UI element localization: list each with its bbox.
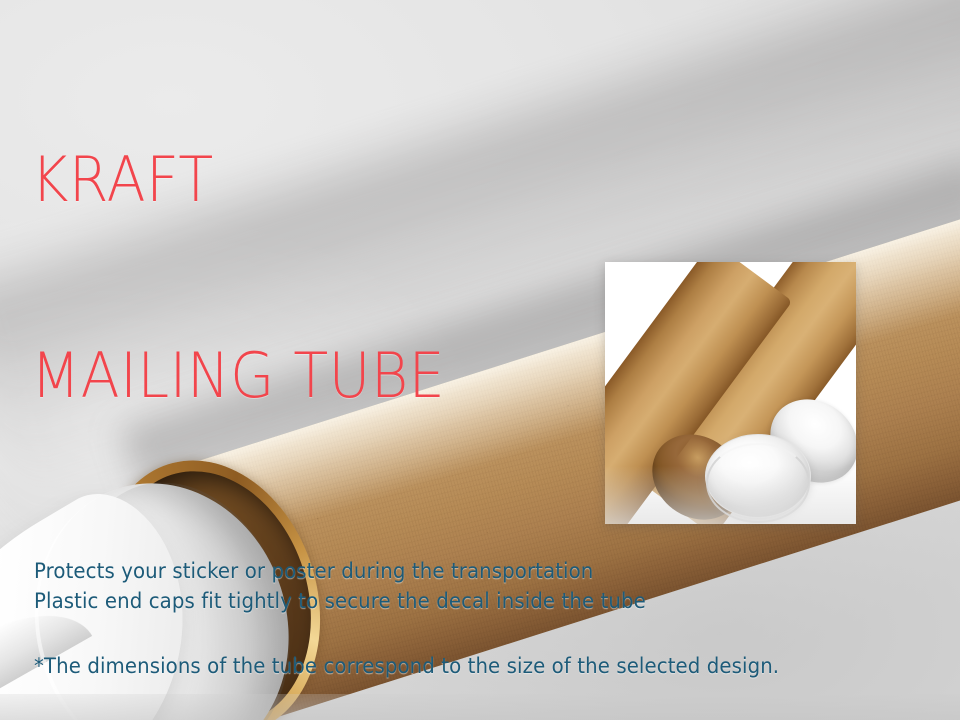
inset-floor-gradient — [605, 466, 856, 524]
page-title-line-2: MAILING TUBE — [31, 344, 445, 407]
feature-description: Protects your sticker or poster during t… — [34, 557, 646, 617]
page-title: KRAFT MAILING TUBE — [31, 22, 445, 534]
feature-line-2: Plastic end caps fit tightly to secure t… — [34, 587, 646, 617]
page-title-line-1: KRAFT — [31, 148, 445, 211]
bottom-gradient-band — [0, 694, 960, 720]
poster-canvas: KRAFT MAILING TUBE Protects your sticker… — [0, 0, 960, 720]
product-photo-inset — [605, 262, 856, 524]
dimensions-note: *The dimensions of the tube correspond t… — [34, 652, 779, 682]
feature-line-1: Protects your sticker or poster during t… — [34, 557, 646, 587]
